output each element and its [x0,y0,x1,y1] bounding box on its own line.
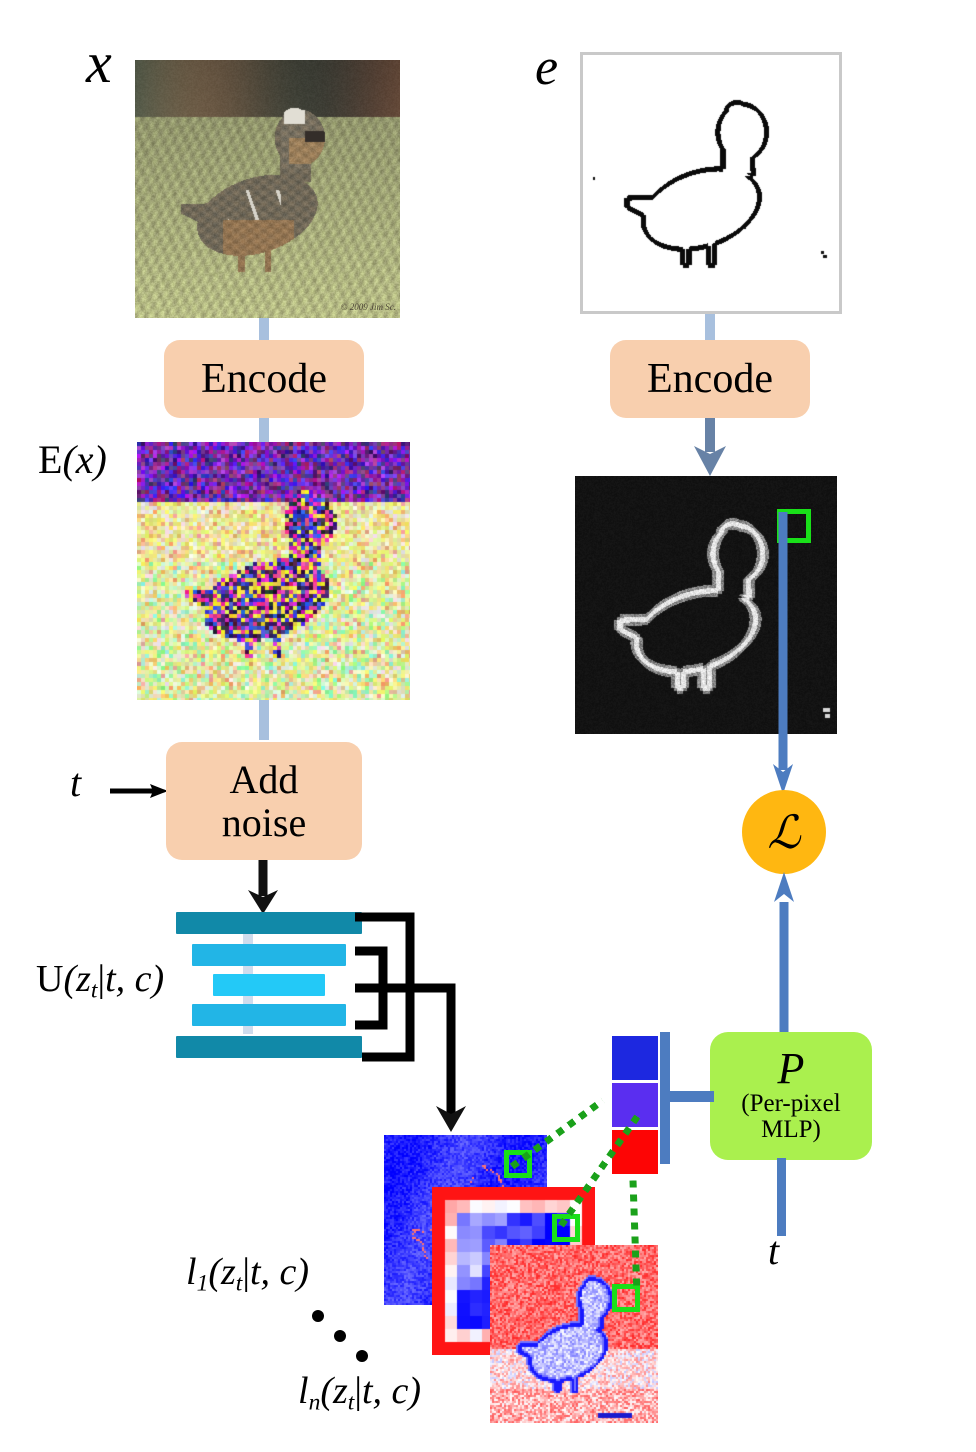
label-unet: U(zt|t, c) [36,960,164,1003]
ellipsis-dots [306,1306,376,1368]
latent-encoded-image [137,442,410,700]
arrow-edge-latent-to-loss [773,512,793,794]
encode-box-right-label: Encode [647,355,773,403]
arrow-unet-to-logits [434,1096,468,1132]
edge-sketch-image [580,52,842,314]
class-bar-blue [612,1036,658,1080]
per-pixel-mlp-box[interactable]: P (Per-pixel MLP) [710,1032,872,1160]
mlp-symbol: P [778,1047,805,1091]
add-noise-label-line1: Add [230,758,299,801]
photo-credit: © 2009 Jim Sc. [341,302,396,312]
diagram-canvas: x © 2009 Jim Sc. Encode E(x) t Add noise [0,0,976,1452]
unet-bar-1 [176,912,362,934]
encode-box-left[interactable]: Encode [164,340,364,418]
arrow-addnoise-to-unet [246,860,280,914]
unet-bar-4 [192,1004,346,1026]
loss-node[interactable]: ℒ [742,790,826,874]
label-input-image: x [86,34,112,92]
mlp-caption-line2: MLP) [761,1117,821,1143]
arrow-mlp-to-loss [774,872,794,1034]
label-encoded-image: E(x) [38,440,107,480]
label-edge-image: e [535,42,558,94]
link-edge-to-encode [705,314,715,342]
encode-box-left-label: Encode [201,355,327,403]
link-latent-to-addnoise [259,700,269,740]
loss-symbol: ℒ [767,805,800,859]
arrow-timestep-to-addnoise [110,782,168,800]
encode-box-right[interactable]: Encode [610,340,810,418]
label-timestep-right: t [768,1231,779,1271]
label-logit-last: ln(zt|t, c) [298,1372,421,1415]
add-noise-label-line2: noise [222,801,306,844]
input-photo: © 2009 Jim Sc. [135,60,400,318]
add-noise-box[interactable]: Add noise [166,742,362,860]
link-timestep-to-mlp [777,1158,786,1236]
unet-bar-2 [192,944,346,966]
edge-latent-image [575,476,837,734]
dotted-link-map1-to-blue-bar [510,1098,605,1169]
label-logit-first: l1(zt|t, c) [186,1253,309,1296]
arrow-encode-to-edge-latent [692,418,728,476]
unet-bar-3 [213,974,325,996]
unet-diagram [150,908,380,1043]
label-timestep-left: t [70,763,81,803]
mlp-input-bracket-horizontal [660,1091,714,1102]
unet-bar-5 [176,1036,362,1058]
mlp-caption-line1: (Per-pixel [741,1091,840,1117]
